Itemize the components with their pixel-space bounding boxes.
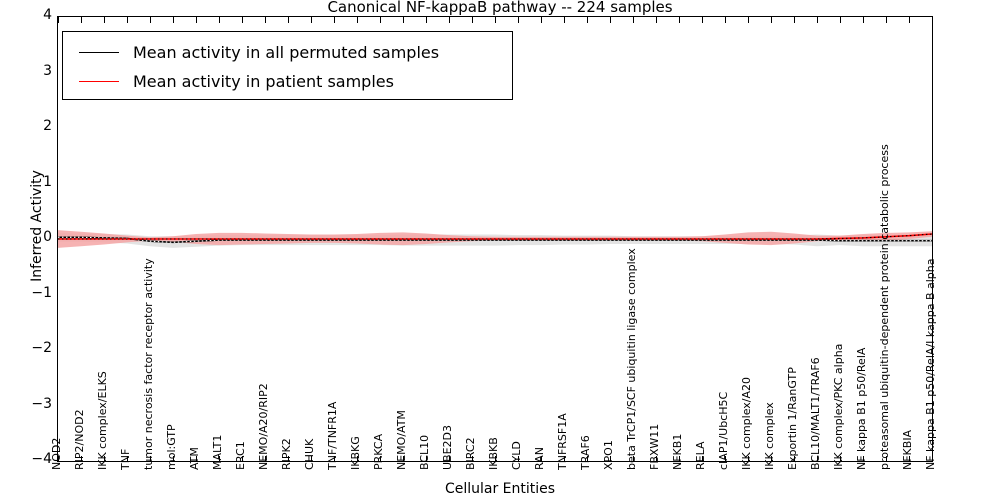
- legend-label-permuted: Mean activity in all permuted samples: [133, 43, 439, 62]
- x-axis-tick-label: tumor necrosis factor receptor activity: [143, 258, 154, 470]
- x-axis-tick-label: MALT1: [212, 435, 223, 470]
- x-axis-tick-label: NOD2: [51, 438, 62, 470]
- legend-swatch-permuted: [79, 52, 119, 53]
- legend-entry-patient: Mean activity in patient samples: [63, 66, 512, 96]
- x-axis-tick-label: Exportin 1/RanGTP: [787, 367, 798, 470]
- x-axis-tick-label: CHUK: [304, 439, 315, 470]
- x-axis-tick-label: CYLD: [511, 441, 522, 470]
- x-axis-tick-label: NEMO/ATM: [396, 410, 407, 470]
- x-axis-tick-label: RELA: [695, 442, 706, 471]
- x-axis-tick-label: IKK complex/A20: [741, 377, 752, 470]
- legend-label-patient: Mean activity in patient samples: [133, 72, 394, 91]
- x-axis-tick-label: PRKCA: [373, 434, 384, 470]
- x-axis-tick-label: IKBKB: [488, 437, 499, 470]
- x-axis-tick-label: IKK complex: [764, 402, 775, 470]
- x-axis-tick-label: TNF/TNFR1A: [327, 402, 338, 470]
- x-axis-tick-label: TNFRSF1A: [557, 413, 568, 470]
- x-axis-tick-label: NFKBIA: [902, 430, 913, 470]
- x-axis-tick-label: NF kappa B1 p50/RelA/I kappa B alpha: [925, 259, 936, 471]
- chart-figure: Canonical NF-kappaB pathway -- 224 sampl…: [0, 0, 1000, 500]
- legend-swatch-patient: [79, 81, 119, 82]
- x-axis-tick-label: IKBKG: [350, 436, 361, 470]
- x-axis-tick-label: IKK complex/PKC alpha: [833, 344, 844, 470]
- x-axis-tick-label: proteasomal ubiquitin-dependent protein …: [879, 144, 890, 470]
- x-axis-tick-label: IKK complex/ELKS: [97, 371, 108, 470]
- x-axis-tick-label: NEMO/A20/RIP2: [258, 383, 269, 470]
- x-axis-label: Cellular Entities: [0, 481, 1000, 497]
- x-axis-tick-label: BCL10: [419, 435, 430, 470]
- x-axis-tick-label: beta TrCP1/SCF ubiquitin ligase complex: [626, 248, 637, 470]
- x-axis-tick-label: BCL10/MALT1/TRAF6: [810, 357, 821, 470]
- x-axis-tick-label: mol:GTP: [166, 424, 177, 470]
- x-axis-tick-label: XPO1: [603, 440, 614, 470]
- x-axis-tick-label: TRAF6: [580, 435, 591, 470]
- x-axis-tick-label: ATM: [189, 447, 200, 470]
- x-axis-tick-label: NFKB1: [672, 434, 683, 470]
- x-axis-tick-label: ERC1: [235, 441, 246, 470]
- legend-entry-permuted: Mean activity in all permuted samples: [63, 37, 512, 67]
- x-axis-tick-label: NF kappa B1 p50/RelA: [856, 348, 867, 470]
- x-axis-tick-label: RAN: [534, 447, 545, 470]
- x-axis-tick-label: BIRC2: [465, 437, 476, 470]
- x-axis-tick-label: RIPK2: [281, 438, 292, 470]
- x-axis-tick-label: UBE2D3: [442, 425, 453, 470]
- x-axis-tick-label: FBXW11: [649, 424, 660, 470]
- x-axis-tick-label: TNF: [120, 449, 131, 470]
- chart-legend: Mean activity in all permuted samples Me…: [62, 31, 513, 100]
- x-axis-tick-label: RIP2/NOD2: [74, 409, 85, 470]
- x-axis-tick-label: cIAP1/UbcH5C: [718, 392, 729, 470]
